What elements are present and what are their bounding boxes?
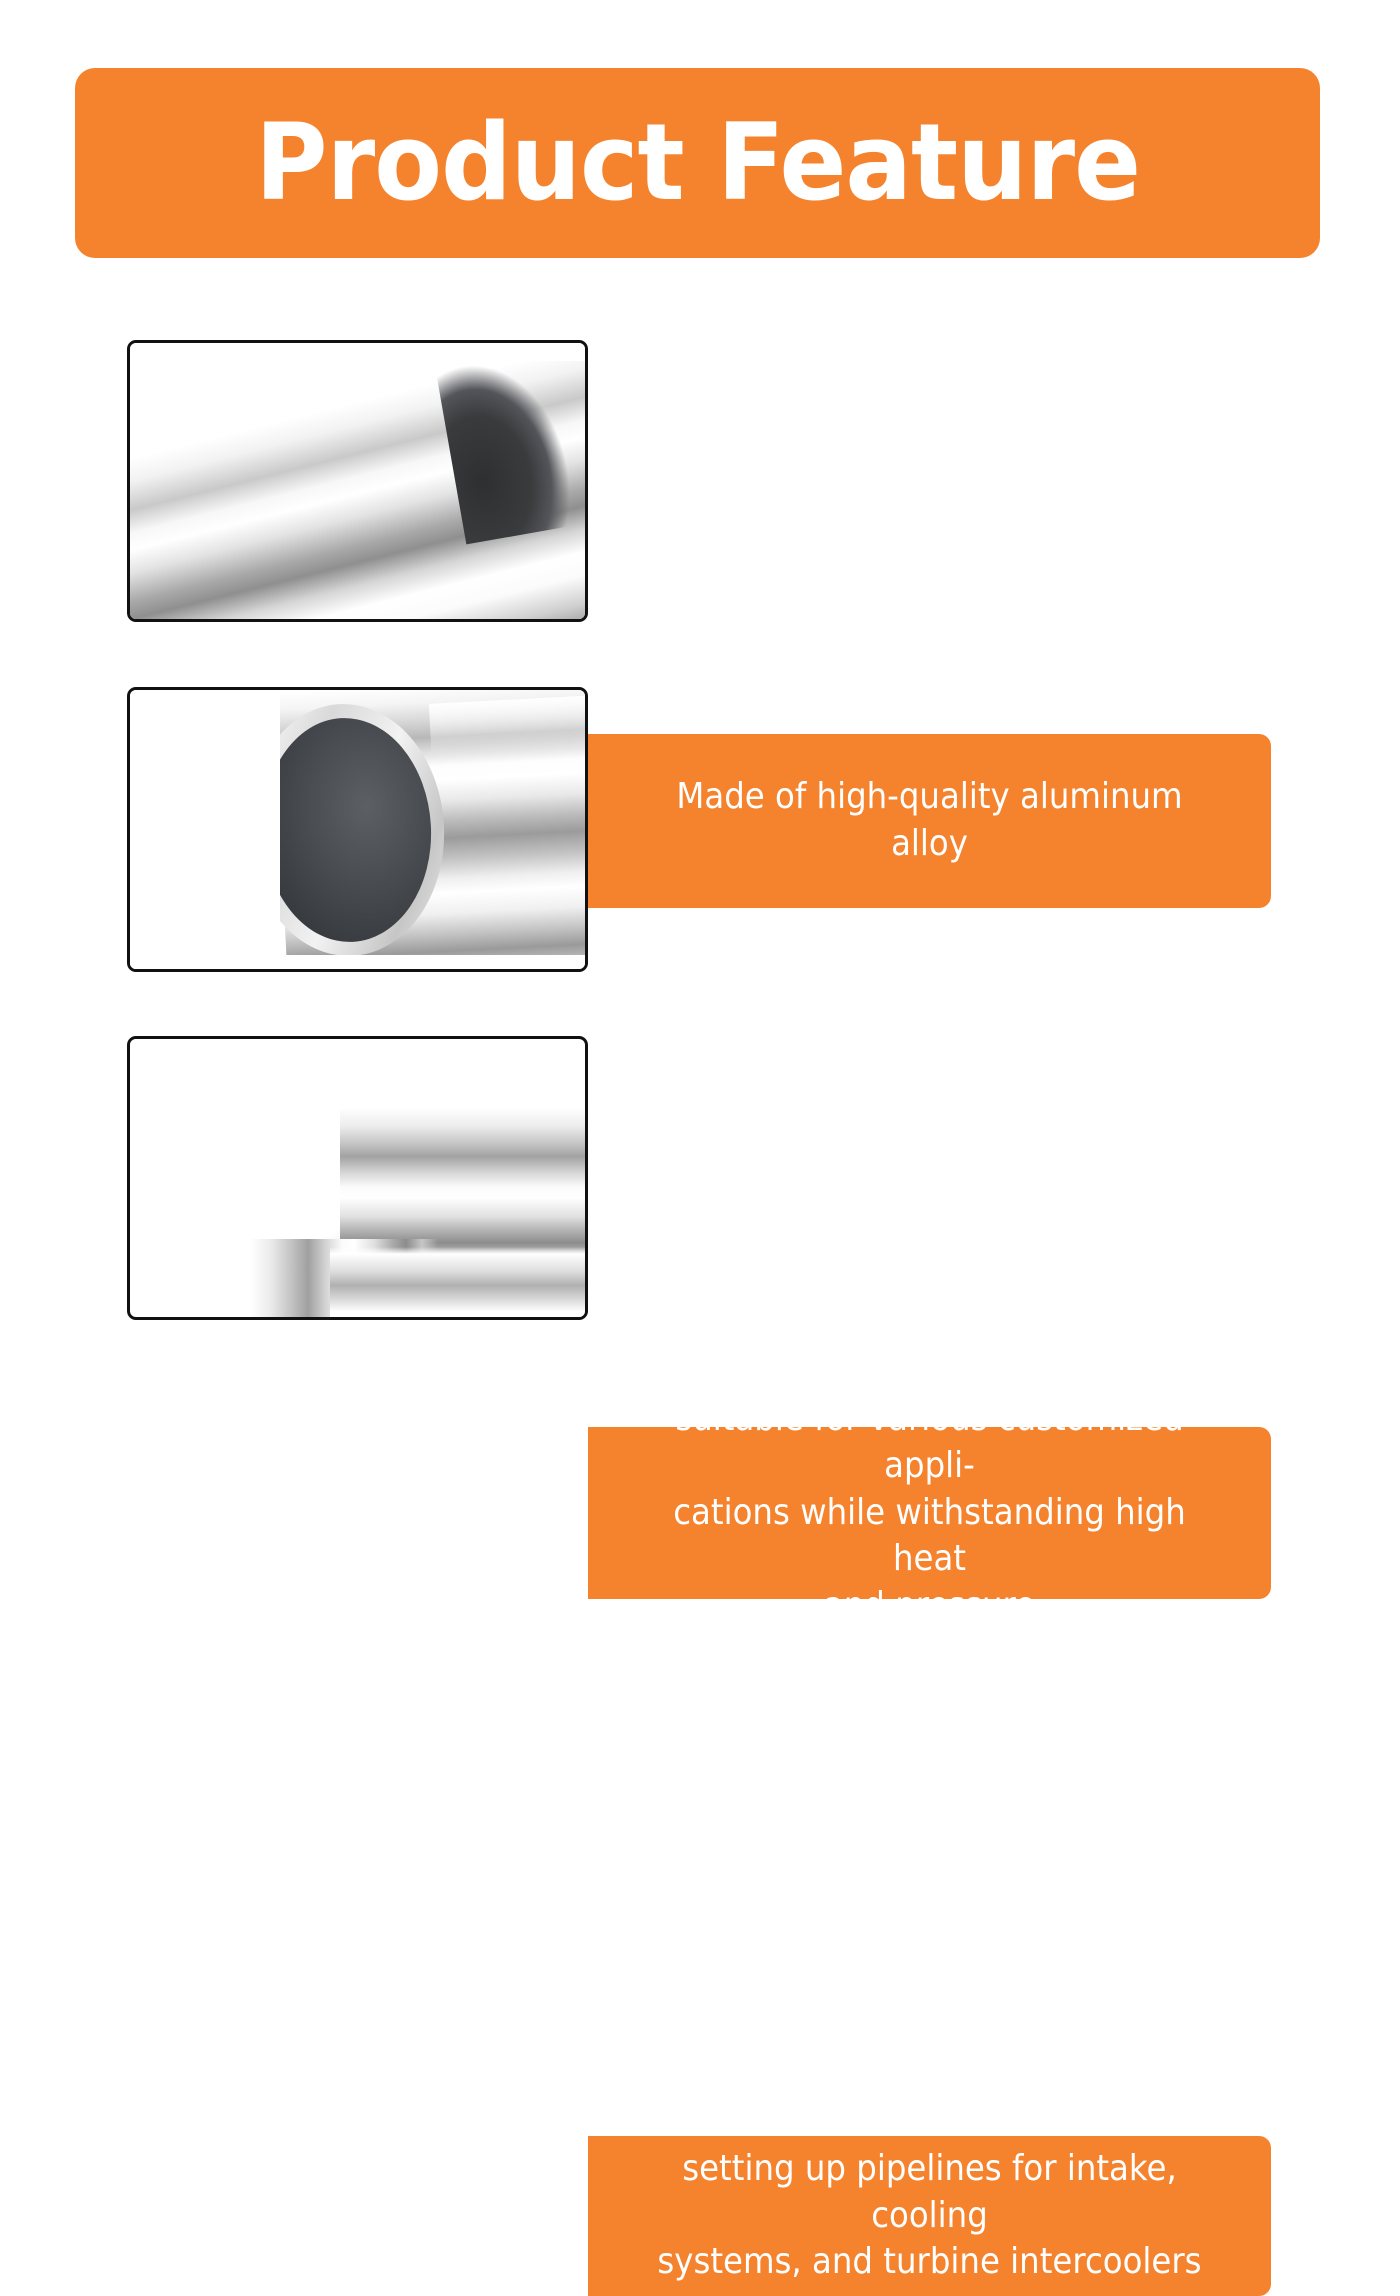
photo2-backdrop-left	[130, 690, 280, 969]
product-feature-infographic: Product Feature Made of high-quality alu…	[0, 0, 1400, 1400]
feature-callout-text-3: setting up pipelines for intake, cooling…	[638, 2146, 1220, 2286]
feature-image-frame-3	[127, 1036, 588, 1320]
feature-row-2: suitable for various customized appli- c…	[0, 687, 1400, 972]
feature-callout-text-2: suitable for various customized appli- c…	[638, 1396, 1220, 1630]
feature-image-frame-1	[127, 340, 588, 622]
feature-row-1: Made of high-quality aluminum alloy	[0, 340, 1400, 622]
feature-callout-2: suitable for various customized appli- c…	[588, 1427, 1271, 1599]
feature-row-3: setting up pipelines for intake, cooling…	[0, 1036, 1400, 1320]
pipe-elbow-photo-3	[130, 1039, 585, 1317]
header-banner: Product Feature	[75, 68, 1320, 258]
pipe-tube-photo-2	[130, 690, 585, 969]
feature-callout-3: setting up pipelines for intake, cooling…	[588, 2136, 1271, 2296]
feature-image-frame-2	[127, 687, 588, 972]
photo2-backdrop-bottom	[130, 955, 585, 969]
photo3-lower-leg	[330, 1247, 585, 1317]
pipe-bend-photo-1	[130, 343, 585, 619]
page-title: Product Feature	[255, 110, 1140, 216]
photo3-backdrop	[130, 1039, 280, 1159]
